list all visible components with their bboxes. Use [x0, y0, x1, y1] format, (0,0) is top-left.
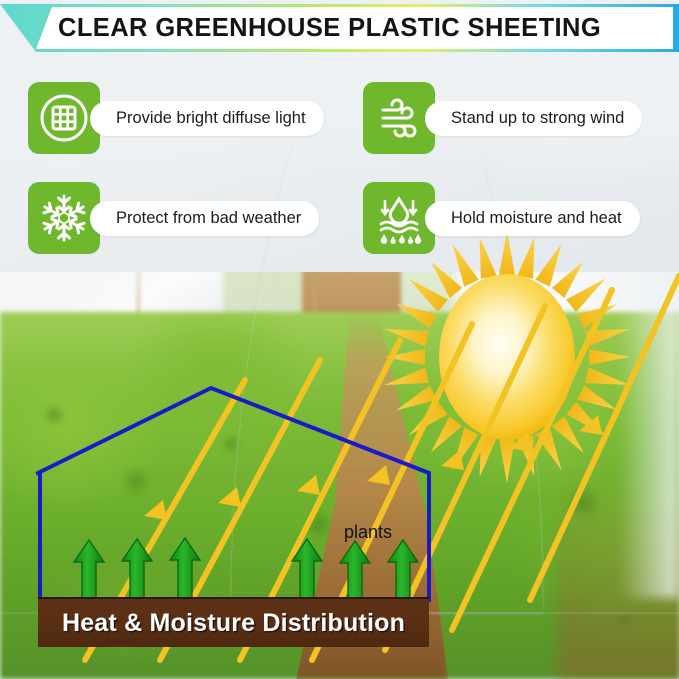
feature-label: Provide bright diffuse light — [116, 109, 306, 128]
feature-item-strong-wind[interactable]: Stand up to strong wind — [332, 68, 679, 168]
greenhouse-product-infographic: CLEAR GREENHOUSE PLASTIC SHEETING Provi — [0, 0, 679, 679]
feature-row: Protect from bad weather — [0, 168, 679, 268]
feature-label: Protect from bad weather — [116, 209, 301, 228]
feature-label-pill: Stand up to strong wind — [425, 101, 642, 136]
feature-label: Hold moisture and heat — [451, 209, 622, 228]
feature-row: Provide bright diffuse light St — [0, 68, 679, 168]
page-title: CLEAR GREENHOUSE PLASTIC SHEETING — [58, 14, 601, 43]
heat-moisture-banner: Heat & Moisture Distribution — [38, 597, 429, 647]
heat-moisture-banner-text: Heat & Moisture Distribution — [62, 609, 405, 638]
feature-label-pill: Provide bright diffuse light — [90, 101, 324, 136]
feature-list: Provide bright diffuse light St — [0, 68, 679, 268]
header-banner: CLEAR GREENHOUSE PLASTIC SHEETING — [6, 7, 673, 49]
feature-item-bad-weather[interactable]: Protect from bad weather — [0, 168, 332, 268]
feature-label: Stand up to strong wind — [451, 109, 624, 128]
feature-item-diffuse-light[interactable]: Provide bright diffuse light — [0, 68, 332, 168]
plants-label: plants — [344, 522, 392, 543]
feature-label-pill: Hold moisture and heat — [425, 201, 640, 236]
feature-label-pill: Protect from bad weather — [90, 201, 319, 236]
feature-item-moisture-heat[interactable]: Hold moisture and heat — [332, 168, 679, 268]
